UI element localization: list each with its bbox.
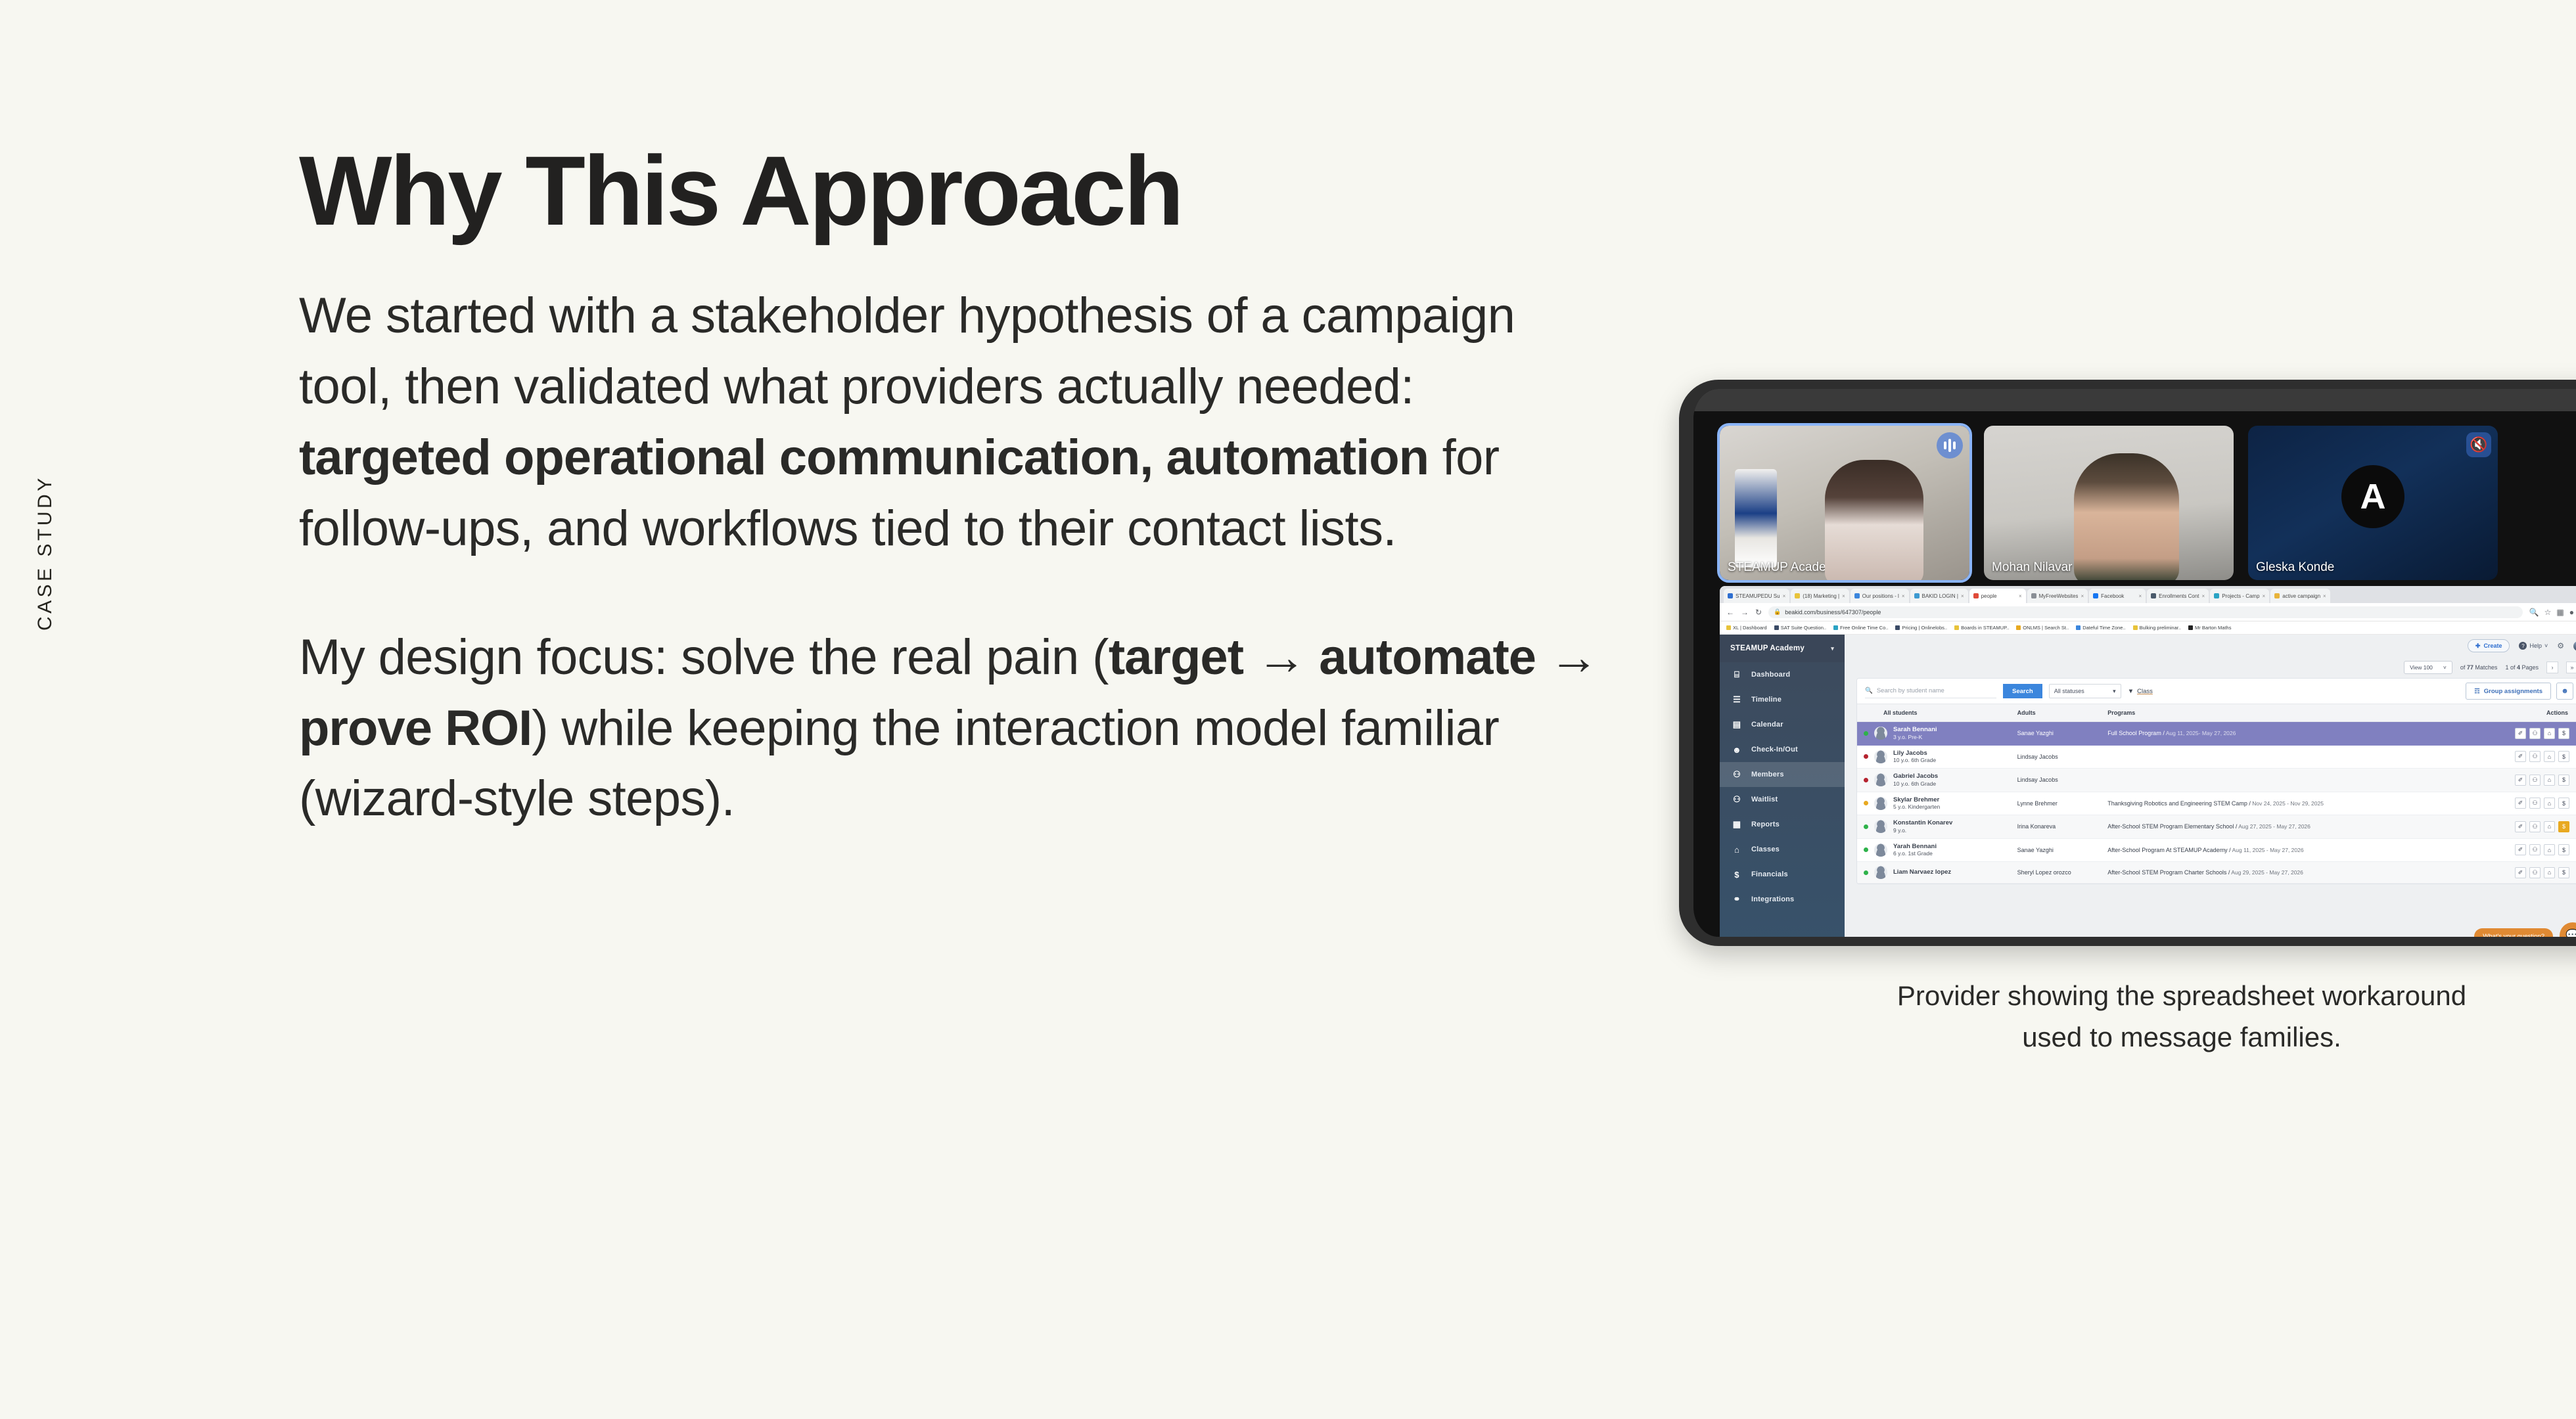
row-actions: ✐⚇⌂$ bbox=[2470, 821, 2576, 832]
chat-launcher-button[interactable]: 💬 bbox=[2560, 922, 2576, 937]
row-actions: ✐⚇⌂$ bbox=[2470, 867, 2576, 878]
student-name: Gabriel Jacobs bbox=[1893, 773, 1938, 780]
search-icon[interactable]: 🔍 bbox=[2529, 608, 2539, 617]
avatar bbox=[1874, 797, 1887, 810]
note-icon[interactable]: ✐ bbox=[2515, 728, 2526, 739]
text-run: We started with a stakeholder hypothesis… bbox=[299, 288, 1515, 415]
chevron-down-icon: ˅ bbox=[2544, 642, 2548, 649]
extensions-icon[interactable]: ▦ bbox=[2556, 608, 2564, 617]
page-indicator: 1 of 4 Pages bbox=[2505, 664, 2539, 671]
app-main: ✚ Create ? Help ˅ ⚙ bbox=[1845, 635, 2576, 937]
column-adults: Adults bbox=[2017, 704, 2108, 722]
sidebar-item-label: Timeline bbox=[1751, 696, 1782, 704]
student-meta: 6 y.o. 1st Grade bbox=[1893, 850, 1937, 857]
cell-program: Full School Program / Aug 11, 2025- May … bbox=[2107, 722, 2470, 746]
emphasis-run: targeted operational communication, auto… bbox=[299, 430, 1429, 485]
user-avatar[interactable] bbox=[2573, 641, 2576, 651]
bookmark-item[interactable]: SAT Suite Question.. bbox=[1774, 625, 1826, 631]
page-title: Why This Approach bbox=[299, 141, 1626, 240]
avatar bbox=[1874, 727, 1887, 740]
row-actions: ✐⚇⌂$ bbox=[2470, 728, 2576, 739]
graduation-cap-icon[interactable]: ⌂ bbox=[2544, 798, 2555, 809]
sidebar-item-label: Waitlist bbox=[1751, 796, 1778, 803]
sidebar-item-integrations[interactable]: ⚭Integrations bbox=[1720, 887, 1845, 912]
bookmark-label: Dateful Time Zone.. bbox=[2082, 625, 2125, 631]
close-icon[interactable]: × bbox=[2081, 593, 2084, 599]
app-sidebar: STEAMUP Academy ▾ ⌸Dashboard☰Timeline▤Ca… bbox=[1720, 635, 1845, 937]
sidebar-item-classes[interactable]: ⌂Classes bbox=[1720, 837, 1845, 862]
row-actions: ✐⚇⌂$ bbox=[2470, 798, 2576, 809]
body-paragraph-2: My design focus: solve the real pain (ta… bbox=[299, 622, 1600, 835]
program-name: After-School STEM Program Elementary Sch… bbox=[2107, 823, 2237, 830]
dollar-icon[interactable]: $ bbox=[2558, 751, 2569, 762]
app-shell: STEAMUP Academy ▾ ⌸Dashboard☰Timeline▤Ca… bbox=[1720, 635, 2576, 937]
browser-window: STEAMUPEDU Su×(18) Marketing |×Our posit… bbox=[1720, 586, 2576, 937]
next-page-button[interactable]: › bbox=[2546, 662, 2558, 673]
dollar-icon[interactable]: $ bbox=[2558, 867, 2569, 878]
close-icon[interactable]: × bbox=[1842, 593, 1845, 599]
tab-label: STEAMUPEDU Su bbox=[1736, 593, 1780, 599]
program-dates: Aug 29, 2025 - May 27, 2026 bbox=[2230, 869, 2303, 876]
video-tile-participant-1[interactable]: STEAMUP Academy bbox=[1720, 426, 1969, 580]
avatar bbox=[1874, 844, 1887, 857]
sidebar-item-waitlist[interactable]: ⚇Waitlist bbox=[1720, 787, 1845, 812]
add-person-button[interactable]: ☻ bbox=[2556, 683, 2573, 700]
row-actions: ✐⚇⌂$ bbox=[2470, 844, 2576, 855]
cell-student: Sarah Bennani3 y.o. Pre-K bbox=[1857, 722, 2017, 746]
bookmark-label: Pricing | Onlinelobs.. bbox=[1902, 625, 1947, 631]
tab-label: people bbox=[1981, 593, 2016, 599]
sidebar-nav: ⌸Dashboard☰Timeline▤Calendar☻Check-In/Ou… bbox=[1720, 662, 1845, 912]
bookmark-favicon-icon bbox=[2133, 625, 2138, 630]
cell-student: Liam Narvaez lopez bbox=[1857, 862, 2017, 884]
bookmark-star-icon[interactable]: ☆ bbox=[2544, 608, 2552, 617]
tab-label: active campaign bbox=[2282, 593, 2320, 599]
dollar-icon[interactable]: $ bbox=[2558, 844, 2569, 855]
close-icon[interactable]: × bbox=[1902, 593, 1905, 599]
status-value: All statuses bbox=[2054, 688, 2084, 694]
filter-icon: ▼ bbox=[2128, 688, 2134, 695]
tab-favicon-icon bbox=[1854, 593, 1860, 598]
tab-favicon-icon bbox=[1728, 593, 1733, 598]
bookmark-item[interactable]: XL | Dashboard bbox=[1726, 625, 1767, 631]
status-select[interactable]: All statuses ▾ bbox=[2049, 684, 2121, 698]
cell-actions: ✐⚇⌂$ bbox=[2470, 838, 2576, 862]
filters-actions: ☶ Group assignments ☻ bbox=[2466, 683, 2573, 700]
row-actions: ✐⚇⌂$ bbox=[2470, 775, 2576, 786]
browser-address-bar: ← → ↻ 🔒 beakid.com/business/647307/peopl… bbox=[1720, 603, 2576, 621]
calendar-icon: ▤ bbox=[1732, 719, 1742, 730]
sidebar-brand[interactable]: STEAMUP Academy ▾ bbox=[1720, 635, 1845, 662]
figure-caption: Provider showing the spreadsheet workaro… bbox=[1879, 975, 2484, 1058]
video-tile-name: STEAMUP Academy bbox=[1728, 560, 1843, 575]
program-dates: Aug 11, 2025 - May 27, 2026 bbox=[2231, 847, 2304, 853]
close-icon[interactable]: × bbox=[1961, 593, 1964, 599]
browser-tab[interactable]: Enrollments Cont× bbox=[2147, 589, 2209, 603]
create-label: Create bbox=[2483, 642, 2502, 649]
tab-favicon-icon bbox=[2214, 593, 2219, 598]
table-header-row: All students Adults Programs Actions bbox=[1857, 704, 2576, 722]
match-count: of 77 Matches bbox=[2460, 664, 2498, 671]
video-tile-participant-3[interactable]: 🔇 A Gleska Konde bbox=[2248, 426, 2498, 580]
browser-tab[interactable]: BAKID LOGIN |× bbox=[1910, 589, 1968, 603]
cell-actions: ✐⚇⌂$ bbox=[2470, 722, 2576, 746]
app-topbar: ✚ Create ? Help ˅ ⚙ bbox=[1845, 635, 2576, 657]
table-row[interactable]: Yarah Bennani6 y.o. 1st GradeSanae Yazgh… bbox=[1857, 838, 2576, 862]
bookmark-item[interactable]: Bulking preliminar.. bbox=[2133, 625, 2181, 631]
sidebar-brand-label: STEAMUP Academy bbox=[1730, 644, 1805, 652]
tab-label: Enrollments Cont bbox=[2159, 593, 2199, 599]
tab-label: (18) Marketing | bbox=[1803, 593, 1839, 599]
cell-adult: Irina Konareva bbox=[2017, 815, 2108, 839]
status-badge bbox=[1864, 754, 1868, 759]
bookmark-favicon-icon bbox=[1774, 625, 1779, 630]
avatar: A bbox=[2341, 465, 2404, 528]
cell-actions: ✐⚇⌂$ bbox=[2470, 862, 2576, 884]
reports-icon: ▦ bbox=[1732, 819, 1742, 830]
browser-tab[interactable]: Our positions - l× bbox=[1851, 589, 1909, 603]
audio-level-icon bbox=[1937, 432, 1963, 459]
cell-program: After-School Program At STEAMUP Academy … bbox=[2107, 838, 2470, 862]
class-filter[interactable]: ▼ Class bbox=[2128, 688, 2153, 695]
student-meta: 3 y.o. Pre-K bbox=[1893, 734, 1937, 741]
student-meta: 10 y.o. 6th Grade bbox=[1893, 780, 1938, 788]
group-icon: ☶ bbox=[2474, 688, 2480, 695]
graduation-cap-icon[interactable]: ⌂ bbox=[2544, 821, 2555, 832]
bookmark-label: XL | Dashboard bbox=[1733, 625, 1767, 631]
column-programs: Programs bbox=[2107, 704, 2470, 722]
cell-adult: Sanae Yazghi bbox=[2017, 722, 2108, 746]
text-column: Why This Approach We started with a stak… bbox=[299, 141, 1626, 834]
close-icon[interactable]: × bbox=[2138, 593, 2142, 599]
page-size-value: View 100 bbox=[2410, 664, 2433, 671]
student-name: Sarah Bennani bbox=[1893, 726, 1937, 733]
url-input[interactable]: 🔒 beakid.com/business/647307/people bbox=[1768, 606, 2523, 618]
student-name: Skylar Brehmer bbox=[1893, 796, 1939, 803]
tablet-device-frame: STEAMUP Academy Mohan Nilavar 🔇 A Gleska… bbox=[1679, 380, 2576, 946]
bookmark-item[interactable]: ONLMS | Search St.. bbox=[2016, 625, 2069, 631]
cell-program: After-School STEM Program Elementary Sch… bbox=[2107, 815, 2470, 839]
student-name: Yarah Bennani bbox=[1893, 843, 1937, 850]
cell-student: Yarah Bennani6 y.o. 1st Grade bbox=[1857, 838, 2017, 862]
program-name: Thanksgiving Robotics and Engineering ST… bbox=[2107, 800, 2251, 807]
group-assignments-button[interactable]: ☶ Group assignments bbox=[2466, 683, 2551, 700]
sidebar-item-label: Classes bbox=[1751, 845, 1780, 853]
cell-student: Konstantin Konarev9 y.o. bbox=[1857, 815, 2017, 839]
tab-favicon-icon bbox=[2274, 593, 2280, 598]
bookmark-favicon-icon bbox=[2016, 625, 2021, 630]
sidebar-item-label: Financials bbox=[1751, 870, 1788, 878]
people-icon[interactable]: ⚇ bbox=[2529, 844, 2541, 855]
people-icon[interactable]: ⚇ bbox=[2529, 751, 2541, 762]
close-icon[interactable]: × bbox=[1783, 593, 1786, 599]
browser-tab[interactable]: active campaign× bbox=[2270, 589, 2330, 603]
cell-program bbox=[2107, 769, 2470, 792]
plus-icon: ✚ bbox=[2475, 642, 2481, 650]
sidebar-item-reports[interactable]: ▦Reports bbox=[1720, 812, 1845, 837]
program-dates: Nov 24, 2025 - Nov 29, 2025 bbox=[2251, 800, 2324, 807]
cell-actions: ✐⚇⌂$ bbox=[2470, 745, 2576, 769]
browser-actions: 🔍 ☆ ▦ ● ⋮ bbox=[2529, 608, 2576, 617]
sidebar-item-timeline[interactable]: ☰Timeline bbox=[1720, 687, 1845, 712]
graduation-cap-icon[interactable]: ⌂ bbox=[2544, 728, 2555, 739]
forward-icon[interactable]: → bbox=[1741, 608, 1749, 617]
help-label: Help bbox=[2529, 642, 2542, 649]
filters-toolbar: 🔍 Search by student name Search All stat… bbox=[1857, 679, 2576, 704]
user-check-icon: ☻ bbox=[1732, 744, 1742, 755]
graduation-cap-icon[interactable]: ⌂ bbox=[2544, 751, 2555, 762]
video-tile-name: Gleska Konde bbox=[2256, 560, 2334, 575]
members-table-body: Sarah Bennani3 y.o. Pre-KSanae YazghiFul… bbox=[1857, 722, 2576, 884]
graduation-cap-icon: ⌂ bbox=[1732, 844, 1742, 855]
row-actions: ✐⚇⌂$ bbox=[2470, 751, 2576, 762]
bookmark-favicon-icon bbox=[1726, 625, 1731, 630]
table-row[interactable]: Liam Narvaez lopezSheryl Lopez orozcoAft… bbox=[1857, 862, 2576, 884]
chat-prompt-bubble[interactable]: What's your question? bbox=[2474, 928, 2553, 937]
program-name: Full School Program / bbox=[2107, 730, 2165, 736]
microphone-muted-icon: 🔇 bbox=[2466, 432, 2491, 457]
gear-icon[interactable]: ⚙ bbox=[2557, 641, 2564, 650]
column-actions: Actions bbox=[2470, 704, 2576, 722]
bookmark-item[interactable]: Free Online Time Co.. bbox=[1833, 625, 1888, 631]
sidebar-item-financials[interactable]: $Financials bbox=[1720, 862, 1845, 887]
cell-adult: Lynne Brehmer bbox=[2017, 792, 2108, 815]
cell-student: Lily Jacobs10 y.o. 6th Grade bbox=[1857, 745, 2017, 769]
chevron-down-icon: ˅ bbox=[2443, 664, 2447, 671]
status-badge bbox=[1864, 778, 1868, 782]
help-button[interactable]: ? Help ˅ bbox=[2519, 642, 2548, 650]
tab-label: Projects - Camp bbox=[2222, 593, 2259, 599]
dollar-icon: $ bbox=[1732, 869, 1742, 880]
avatar bbox=[1874, 820, 1887, 833]
members-panel: 🔍 Search by student name Search All stat… bbox=[1856, 678, 2576, 884]
table-row[interactable]: Gabriel Jacobs10 y.o. 6th GradeLindsay J… bbox=[1857, 769, 2576, 792]
note-icon[interactable]: ✐ bbox=[2515, 844, 2526, 855]
integrations-icon: ⚭ bbox=[1732, 894, 1742, 905]
cell-program: Thanksgiving Robotics and Engineering ST… bbox=[2107, 792, 2470, 815]
back-icon[interactable]: ← bbox=[1726, 608, 1734, 617]
people-icon[interactable]: ⚇ bbox=[2529, 775, 2541, 786]
close-icon[interactable]: × bbox=[2263, 593, 2266, 599]
search-placeholder: Search by student name bbox=[1877, 687, 1944, 694]
search-input[interactable]: 🔍 Search by student name bbox=[1865, 684, 1996, 698]
avatar bbox=[1874, 750, 1887, 763]
people-icon[interactable]: ⚇ bbox=[2529, 821, 2541, 832]
bookmark-item[interactable]: Pricing | Onlinelobs.. bbox=[1895, 625, 1947, 631]
tablet-screen: STEAMUP Academy Mohan Nilavar 🔇 A Gleska… bbox=[1693, 389, 2576, 937]
graduation-cap-icon[interactable]: ⌂ bbox=[2544, 844, 2555, 855]
waitlist-icon: ⚇ bbox=[1732, 794, 1742, 805]
graduation-cap-icon[interactable]: ⌂ bbox=[2544, 867, 2555, 878]
bookmark-label: Free Online Time Co.. bbox=[1840, 625, 1888, 631]
search-button[interactable]: Search bbox=[2003, 684, 2042, 698]
cell-student: Gabriel Jacobs10 y.o. 6th Grade bbox=[1857, 769, 2017, 792]
bookmark-label: Bulking preliminar.. bbox=[2140, 625, 2181, 631]
note-icon[interactable]: ✐ bbox=[2515, 798, 2526, 809]
table-row[interactable]: Skylar Brehmer5 y.o. KindergartenLynne B… bbox=[1857, 792, 2576, 815]
grid-icon: ⌸ bbox=[1732, 669, 1742, 680]
chat-icon: ☰ bbox=[1732, 694, 1742, 705]
status-badge bbox=[1864, 801, 1868, 805]
tab-favicon-icon bbox=[1973, 593, 1979, 598]
cell-actions: ✐⚇⌂$ bbox=[2470, 815, 2576, 839]
cell-program: After-School STEM Program Charter School… bbox=[2107, 862, 2470, 884]
lock-icon: 🔒 bbox=[1774, 608, 1781, 616]
cell-actions: ✐⚇⌂$ bbox=[2470, 792, 2576, 815]
url-text: beakid.com/business/647307/people bbox=[1785, 609, 1881, 616]
note-icon[interactable]: ✐ bbox=[2515, 775, 2526, 786]
tab-label: MyFreeWebsites bbox=[2039, 593, 2079, 599]
note-icon[interactable]: ✐ bbox=[2515, 867, 2526, 878]
video-app-topbar bbox=[1693, 389, 2576, 411]
bookmark-favicon-icon bbox=[2188, 625, 2193, 630]
program-name: After-School STEM Program Charter School… bbox=[2107, 869, 2230, 876]
bookmark-label: SAT Suite Question.. bbox=[1781, 625, 1826, 631]
people-icon[interactable]: ⚇ bbox=[2529, 867, 2541, 878]
create-button[interactable]: ✚ Create bbox=[2468, 639, 2510, 652]
body-paragraph-1: We started with a stakeholder hypothesis… bbox=[299, 281, 1600, 564]
browser-bookmarks-bar: XL | DashboardSAT Suite Question..Free O… bbox=[1720, 621, 2576, 635]
status-badge bbox=[1864, 870, 1868, 875]
close-icon[interactable]: × bbox=[2202, 593, 2205, 599]
pagination-bar: View 100 ˅ of 77 Matches 1 of 4 Pages › … bbox=[1845, 657, 2576, 678]
sidebar-item-label: Dashboard bbox=[1751, 671, 1790, 679]
table-row[interactable]: Lily Jacobs10 y.o. 6th GradeLindsay Jaco… bbox=[1857, 745, 2576, 769]
chevron-down-icon: ▾ bbox=[1831, 645, 1834, 652]
sidebar-item-label: Calendar bbox=[1751, 721, 1783, 729]
program-dates: Aug 27, 2025 - May 27, 2026 bbox=[2237, 823, 2311, 830]
cell-adult: Sheryl Lopez orozco bbox=[2017, 862, 2108, 884]
bookmark-label: Boards in STEAMUP.. bbox=[1961, 625, 2009, 631]
table-row[interactable]: Sarah Bennani3 y.o. Pre-KSanae YazghiFul… bbox=[1857, 722, 2576, 746]
status-badge bbox=[1864, 847, 1868, 852]
bookmark-favicon-icon bbox=[2076, 625, 2081, 630]
cell-student: Skylar Brehmer5 y.o. Kindergarten bbox=[1857, 792, 2017, 815]
tab-favicon-icon bbox=[2093, 593, 2098, 598]
dollar-icon[interactable]: $ bbox=[2558, 728, 2569, 739]
bookmark-label: ONLMS | Search St.. bbox=[2023, 625, 2069, 631]
graduation-cap-icon[interactable]: ⌂ bbox=[2544, 775, 2555, 786]
text-run: My design focus: solve the real pain ( bbox=[299, 629, 1109, 685]
people-icon[interactable]: ⚇ bbox=[2529, 798, 2541, 809]
browser-tab[interactable]: Projects - Camp× bbox=[2210, 589, 2269, 603]
profile-icon[interactable]: ● bbox=[2569, 608, 2574, 617]
bookmark-item[interactable]: Mr Barton Maths bbox=[2188, 625, 2231, 631]
sidebar-item-label: Integrations bbox=[1751, 895, 1794, 903]
program-name: After-School Program At STEAMUP Academy … bbox=[2107, 847, 2230, 853]
last-page-button[interactable]: » bbox=[2566, 662, 2576, 673]
student-meta: 10 y.o. 6th Grade bbox=[1893, 757, 1936, 764]
tab-label: Our positions - l bbox=[1862, 593, 1899, 599]
class-filter-label: Class bbox=[2137, 688, 2153, 695]
tab-favicon-icon bbox=[1914, 593, 1920, 598]
note-icon[interactable]: ✐ bbox=[2515, 751, 2526, 762]
browser-tab[interactable]: (18) Marketing |× bbox=[1791, 589, 1849, 603]
tab-favicon-icon bbox=[1795, 593, 1800, 598]
student-name: Konstantin Konarev bbox=[1893, 819, 1952, 826]
help-icon: ? bbox=[2519, 642, 2527, 650]
people-icon[interactable]: ⚇ bbox=[2529, 728, 2541, 739]
video-call-tiles: STEAMUP Academy Mohan Nilavar 🔇 A Gleska… bbox=[1720, 426, 2498, 580]
bookmark-label: Mr Barton Maths bbox=[2195, 625, 2231, 631]
student-name: Liam Narvaez lopez bbox=[1893, 868, 1951, 876]
page-size-select[interactable]: View 100 ˅ bbox=[2404, 661, 2452, 674]
figure-screenshot: STEAMUP Academy Mohan Nilavar 🔇 A Gleska… bbox=[1679, 380, 2576, 1058]
cell-actions: ✐⚇⌂$ bbox=[2470, 769, 2576, 792]
group-assignments-label: Group assignments bbox=[2484, 688, 2542, 695]
program-dates: Aug 11, 2025- May 27, 2026 bbox=[2165, 730, 2236, 736]
student-meta: 9 y.o. bbox=[1893, 827, 1952, 834]
reload-icon[interactable]: ↻ bbox=[1755, 608, 1762, 617]
close-icon[interactable]: × bbox=[2019, 593, 2022, 599]
case-study-eyebrow: CASE STUDY bbox=[34, 475, 57, 631]
sidebar-item-label: Check-In/Out bbox=[1751, 746, 1798, 754]
members-table: All students Adults Programs Actions Sar… bbox=[1857, 704, 2576, 884]
members-table-head: All students Adults Programs Actions bbox=[1857, 704, 2576, 722]
bookmark-item[interactable]: Boards in STEAMUP.. bbox=[1954, 625, 2009, 631]
sidebar-item-members[interactable]: ⚇Members bbox=[1720, 762, 1845, 787]
student-meta: 5 y.o. Kindergarten bbox=[1893, 803, 1940, 811]
sidebar-item-check-in-out[interactable]: ☻Check-In/Out bbox=[1720, 737, 1845, 762]
close-icon[interactable]: × bbox=[2323, 593, 2326, 599]
table-row[interactable]: Konstantin Konarev9 y.o.Irina KonarevaAf… bbox=[1857, 815, 2576, 839]
status-badge bbox=[1864, 731, 1868, 736]
bookmark-item[interactable]: Dateful Time Zone.. bbox=[2076, 625, 2125, 631]
status-badge bbox=[1864, 824, 1868, 829]
tab-label: BAKID LOGIN | bbox=[1922, 593, 1958, 599]
bookmark-favicon-icon bbox=[1833, 625, 1838, 630]
cell-adult: Lindsay Jacobs bbox=[2017, 745, 2108, 769]
browser-tab[interactable]: people× bbox=[1969, 589, 2026, 603]
video-tile-participant-2[interactable]: Mohan Nilavar bbox=[1984, 426, 2234, 580]
column-all-students: All students bbox=[1857, 704, 2017, 722]
tab-label: Facebook bbox=[2101, 593, 2136, 599]
cell-adult: Lindsay Jacobs bbox=[2017, 769, 2108, 792]
cell-program bbox=[2107, 745, 2470, 769]
avatar bbox=[1874, 773, 1887, 786]
cell-adult: Sanae Yazghi bbox=[2017, 838, 2108, 862]
bookmark-favicon-icon bbox=[1954, 625, 1959, 630]
video-tile-name: Mohan Nilavar bbox=[1992, 560, 2073, 575]
dollar-icon[interactable]: $ bbox=[2558, 775, 2569, 786]
search-icon: 🔍 bbox=[1865, 687, 1873, 694]
sidebar-item-dashboard[interactable]: ⌸Dashboard bbox=[1720, 662, 1845, 687]
dollar-icon[interactable]: $ bbox=[2558, 821, 2569, 832]
browser-tab[interactable]: Facebook× bbox=[2089, 589, 2146, 603]
tab-favicon-icon bbox=[2151, 593, 2156, 598]
sidebar-item-label: Reports bbox=[1751, 821, 1780, 828]
avatar bbox=[1874, 866, 1887, 879]
dollar-icon[interactable]: $ bbox=[2558, 798, 2569, 809]
browser-tab-strip: STEAMUPEDU Su×(18) Marketing |×Our posit… bbox=[1720, 586, 2576, 603]
student-name: Lily Jacobs bbox=[1893, 750, 1927, 757]
bookmark-favicon-icon bbox=[1895, 625, 1900, 630]
sidebar-item-label: Members bbox=[1751, 771, 1784, 778]
browser-tab[interactable]: STEAMUPEDU Su× bbox=[1724, 589, 1789, 603]
browser-tab[interactable]: MyFreeWebsites× bbox=[2027, 589, 2088, 603]
note-icon[interactable]: ✐ bbox=[2515, 821, 2526, 832]
sidebar-item-calendar[interactable]: ▤Calendar bbox=[1720, 712, 1845, 737]
tab-favicon-icon bbox=[2031, 593, 2036, 598]
members-icon: ⚇ bbox=[1732, 769, 1742, 780]
chevron-down-icon: ▾ bbox=[2113, 688, 2116, 695]
